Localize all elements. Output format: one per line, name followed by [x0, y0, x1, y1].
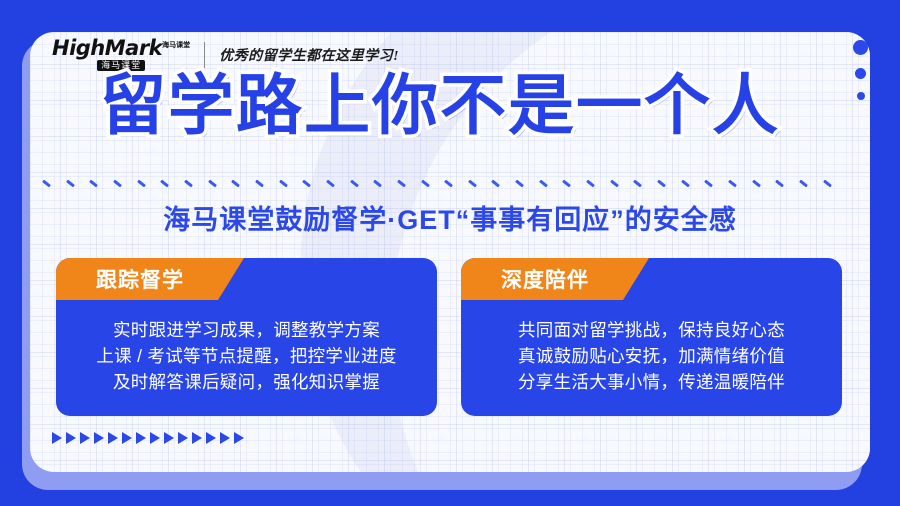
header-divider	[204, 42, 205, 68]
logo-wordmark-text: HighMark	[52, 36, 162, 60]
triangle-icon	[108, 432, 118, 444]
page-title: 留学路上你不是一个人	[40, 72, 840, 138]
dash-mark	[633, 179, 642, 187]
triangle-icon	[234, 432, 244, 444]
dash-mark	[421, 179, 430, 187]
dash-mark	[89, 179, 98, 187]
dash-mark	[799, 179, 808, 187]
card-tab-companionship: 深度陪伴	[461, 258, 649, 300]
dash-mark	[728, 179, 737, 187]
dot-large-icon	[853, 40, 868, 55]
triangle-icon	[150, 432, 160, 444]
dash-mark	[160, 179, 169, 187]
triangle-icon	[206, 432, 216, 444]
dash-mark	[610, 179, 619, 187]
dash-mark	[775, 179, 784, 187]
card-tab-label: 跟踪督学	[56, 264, 184, 294]
dash-mark	[66, 179, 75, 187]
triangle-icon	[52, 432, 62, 444]
feature-cards: 跟踪督学 实时跟进学习成果，调整教学方案 上课 / 考试等节点提醒，把控学业进度…	[56, 258, 842, 416]
triangle-icon	[80, 432, 90, 444]
dash-mark	[704, 179, 713, 187]
card-line: 分享生活大事小情，传递温暖陪伴	[461, 370, 842, 396]
dash-mark	[137, 179, 146, 187]
triangle-icon	[122, 432, 132, 444]
feature-card-tracking: 跟踪督学 实时跟进学习成果，调整教学方案 上课 / 考试等节点提醒，把控学业进度…	[56, 258, 437, 416]
dash-mark	[444, 179, 453, 187]
brand-tagline: 优秀的留学生都在这里学习!	[219, 45, 399, 65]
dot-small-icon	[857, 92, 865, 100]
card-line: 及时解答课后疑问，强化知识掌握	[56, 370, 437, 396]
card-tab-tracking: 跟踪督学	[56, 258, 244, 300]
card-body-companionship: 共同面对留学挑战，保持良好心态 真诚鼓励贴心安抚，加满情绪价值 分享生活大事小情…	[461, 308, 842, 396]
triangle-icon	[220, 432, 230, 444]
card-line: 上课 / 考试等节点提醒，把控学业进度	[56, 344, 437, 370]
poster-canvas: HighMark海马课堂 海马课堂 优秀的留学生都在这里学习! 留学路上你不是一…	[0, 0, 900, 506]
dash-mark	[681, 179, 690, 187]
logo-wordmark: HighMark海马课堂	[52, 38, 190, 59]
dash-mark	[397, 179, 406, 187]
dash-mark	[302, 179, 311, 187]
dash-mark	[373, 179, 382, 187]
logo: HighMark海马课堂 海马课堂	[52, 38, 190, 71]
dash-mark	[184, 179, 193, 187]
dots-decoration	[853, 40, 868, 100]
triangle-icon	[94, 432, 104, 444]
dash-mark	[255, 179, 264, 187]
dash-mark	[752, 179, 761, 187]
page-subtitle: 海马课堂鼓励督学·GET“事事有回应”的安全感	[0, 198, 900, 237]
card-line: 真诚鼓励贴心安抚，加满情绪价值	[461, 344, 842, 370]
card-body-tracking: 实时跟进学习成果，调整教学方案 上课 / 考试等节点提醒，把控学业进度 及时解答…	[56, 308, 437, 396]
card-line: 共同面对留学挑战，保持良好心态	[461, 318, 842, 344]
triangle-icon	[178, 432, 188, 444]
dash-mark	[231, 179, 240, 187]
dash-mark	[823, 179, 832, 187]
triangle-icon	[66, 432, 76, 444]
triangle-icon	[164, 432, 174, 444]
dash-mark	[468, 179, 477, 187]
dash-mark	[657, 179, 666, 187]
card-line: 实时跟进学习成果，调整教学方案	[56, 318, 437, 344]
dash-mark	[350, 179, 359, 187]
dashed-divider	[42, 176, 832, 190]
dash-mark	[491, 179, 500, 187]
dot-medium-icon	[855, 68, 866, 79]
dash-mark	[208, 179, 217, 187]
dash-mark	[562, 179, 571, 187]
dash-mark	[586, 179, 595, 187]
dash-mark	[539, 179, 548, 187]
triangle-icon	[136, 432, 146, 444]
card-tab-label: 深度陪伴	[461, 264, 589, 294]
logo-superscript: 海马课堂	[162, 41, 190, 49]
dash-mark	[326, 179, 335, 187]
dash-mark	[515, 179, 524, 187]
dash-mark	[42, 179, 51, 187]
feature-card-companionship: 深度陪伴 共同面对留学挑战，保持良好心态 真诚鼓励贴心安抚，加满情绪价值 分享生…	[461, 258, 842, 416]
brand-header: HighMark海马课堂 海马课堂 优秀的留学生都在这里学习!	[52, 38, 399, 71]
dash-mark	[279, 179, 288, 187]
arrow-triangles-decoration	[52, 432, 244, 444]
triangle-icon	[192, 432, 202, 444]
dash-mark	[113, 179, 122, 187]
